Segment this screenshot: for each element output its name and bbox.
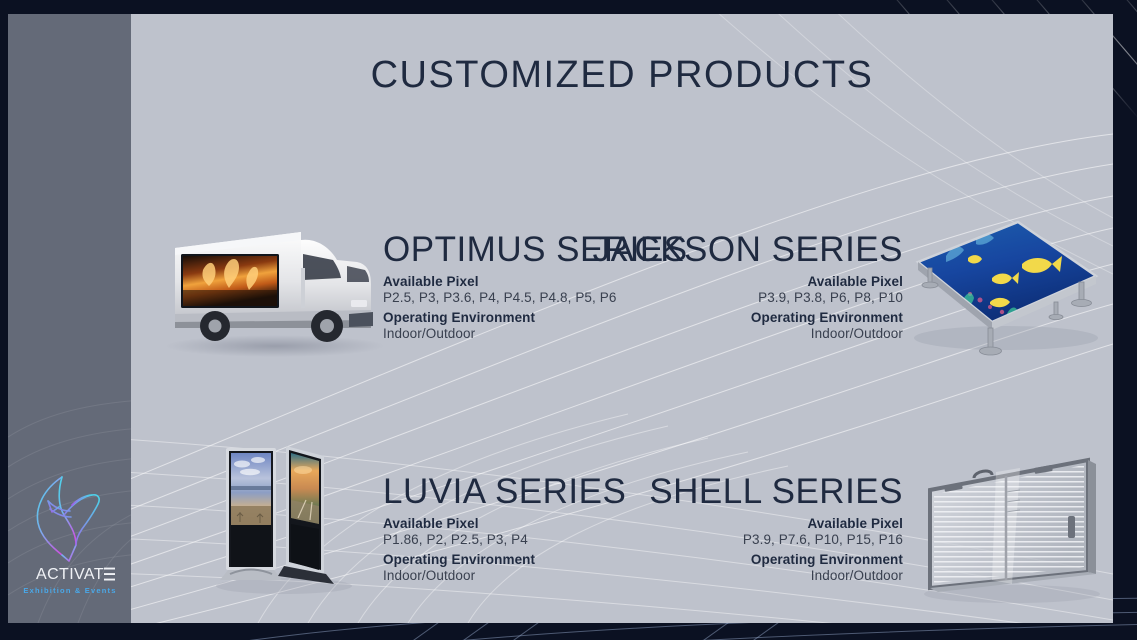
operating-environment-label: Operating Environment — [573, 310, 903, 325]
available-pixel-label: Available Pixel — [383, 516, 626, 531]
available-pixel-label: Available Pixel — [628, 516, 903, 531]
slide-content-panel: ACTIVAT Exhibition & Events CUSTOMIZED P… — [8, 14, 1113, 623]
operating-environment-value: Indoor/Outdoor — [628, 568, 903, 583]
available-pixel-value: P3.9, P7.6, P10, P15, P16 — [628, 532, 903, 547]
operating-environment-label: Operating Environment — [628, 552, 903, 567]
sidebar: ACTIVAT Exhibition & Events — [8, 14, 131, 623]
company-logo: ACTIVAT Exhibition & Events — [18, 471, 122, 595]
svg-text:ACTIVAT: ACTIVAT — [36, 566, 104, 583]
product-luvia-series: LUVIA SERIES Available Pixel P1.86, P2, … — [383, 474, 626, 583]
product-name: SHELL SERIES — [628, 474, 903, 511]
bird-logo-icon — [18, 471, 122, 563]
logo-wordmark: ACTIVAT — [18, 564, 122, 584]
product-name: JACKSON SERIES — [573, 232, 903, 269]
operating-environment-value: Indoor/Outdoor — [573, 326, 903, 341]
logo-tagline: Exhibition & Events — [18, 586, 122, 595]
transparent-led-panel-image — [916, 446, 1106, 608]
product-name: LUVIA SERIES — [383, 474, 626, 511]
led-advertising-truck-image — [151, 210, 393, 358]
led-floor-tile-image — [906, 206, 1104, 356]
presentation-slide: ACTIVAT Exhibition & Events CUSTOMIZED P… — [0, 0, 1137, 640]
operating-environment-value: Indoor/Outdoor — [383, 568, 626, 583]
product-jackson-series: JACKSON SERIES Available Pixel P3.9, P3.… — [573, 232, 903, 341]
available-pixel-label: Available Pixel — [573, 274, 903, 289]
available-pixel-value: P1.86, P2, P2.5, P3, P4 — [383, 532, 626, 547]
operating-environment-label: Operating Environment — [383, 552, 626, 567]
page-title: CUSTOMIZED PRODUCTS — [131, 54, 1113, 97]
digital-signage-kiosks-image — [206, 434, 356, 594]
product-shell-series: SHELL SERIES Available Pixel P3.9, P7.6,… — [628, 474, 903, 583]
available-pixel-value: P3.9, P3.8, P6, P8, P10 — [573, 290, 903, 305]
